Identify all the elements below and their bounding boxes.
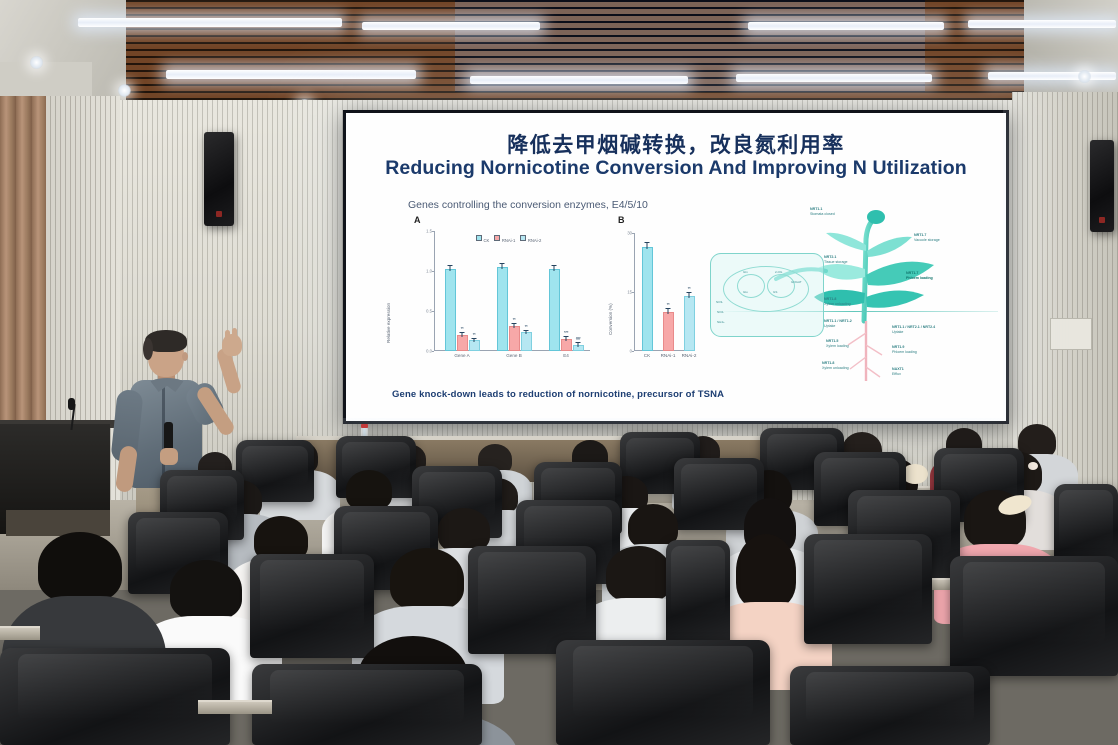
panel-b-xtick: RNAi-1 <box>661 353 676 358</box>
bar-rnai1: ** <box>509 328 520 351</box>
chart-panel-a: A Relative expression 0.0 0.5 1.0 1.5 CK <box>408 225 596 367</box>
bar-rnai2: ** <box>469 342 480 351</box>
ceiling-light-tube <box>362 22 540 30</box>
auditorium-chair[interactable] <box>556 640 770 745</box>
lecture-hall-photo: 降低去甲烟碱转换，改良氮利用率 Reducing Nornicotine Con… <box>0 0 1118 745</box>
ceiling-light-tube <box>736 74 932 82</box>
presenter-finger <box>225 330 230 340</box>
cell-label: NO2- <box>717 310 724 314</box>
projection-screen-surface: 降低去甲烟碱转换，改良氮利用率 Reducing Nornicotine Con… <box>346 113 1006 421</box>
ceiling-downlight <box>30 56 43 69</box>
cell-label: NO3- <box>716 300 723 304</box>
panel-a-xtick: E4 <box>563 353 569 358</box>
wall-notice-plate <box>1050 318 1092 350</box>
nrt-label: NRT1.9Phloem loading <box>892 345 917 355</box>
bar-ck <box>642 249 653 351</box>
bar-ck <box>497 269 508 351</box>
panel-a-letter: A <box>414 215 421 225</box>
panel-b-group: ** RNAi-1 <box>659 233 677 351</box>
ceiling-light-tube <box>988 72 1116 80</box>
desk-row <box>198 700 272 714</box>
significance-marker: ** <box>473 332 476 337</box>
bar-ck <box>549 271 560 351</box>
auditorium-chair[interactable] <box>250 554 374 658</box>
cell-label: NH4+ <box>717 320 725 324</box>
nrt-label: NRT1.7Phloem loading <box>906 271 933 281</box>
panel-a-group: *** ## E4 <box>546 231 586 351</box>
wall-speaker-right <box>1090 140 1114 232</box>
slide-subtitle: Genes controlling the conversion enzymes… <box>408 199 648 211</box>
significance-marker: ** <box>513 317 516 322</box>
nrt-label: NRT1.8Xylem unloading <box>822 361 849 371</box>
significance-marker: ## <box>576 336 580 341</box>
chart-panel-b: B Conversion (%) 0 15 30 <box>614 225 698 367</box>
auditorium-chair[interactable] <box>252 664 482 745</box>
cell-label: Gln <box>743 270 748 274</box>
significance-marker: ** <box>667 302 670 307</box>
bar-rnai1: ** <box>457 337 468 351</box>
bar-ck <box>445 271 456 351</box>
wall-speaker-left <box>204 132 234 226</box>
panel-b-plot-area: 0 15 30 CK <box>634 233 694 351</box>
projection-screen: 降低去甲烟碱转换，改良氮利用率 Reducing Nornicotine Con… <box>343 110 1009 424</box>
ceiling-light-tube <box>78 18 342 27</box>
auditorium-chair[interactable] <box>804 534 932 644</box>
nrt-label: NAXT1Efflux <box>892 367 904 377</box>
panel-a-xtick: Gene B <box>506 353 522 358</box>
nrt-label: NRT1.5Xylem loading <box>826 339 849 349</box>
panel-b-letter: B <box>618 215 625 225</box>
ceiling-light-tube <box>968 20 1116 28</box>
desk-row <box>0 626 40 640</box>
presenter-finger <box>232 328 237 339</box>
cell-label: GS <box>773 290 777 294</box>
bar-rnai1: ** <box>663 314 674 351</box>
water-bottle-cap <box>361 424 368 428</box>
cell-label: 2-OG <box>775 270 782 274</box>
nrt-label: NRT1.1 / NRT1.2Uptake <box>824 319 852 329</box>
cell-label: GOGAT <box>791 280 802 284</box>
panel-a-plot-area: 0.0 0.5 1.0 1.5 CK RNAi-1 RNAi-2 <box>434 231 590 351</box>
nrt-label: NRT1.1 / NRT2.1 / NRT2.4Uptake <box>892 325 935 335</box>
presenter-ear <box>182 352 188 361</box>
panel-b-y-axis <box>634 233 635 351</box>
nitrate-transporter-diagram: NO3- NO2- NH4+ Gln Glu 2-OG GS GOGAT NRT… <box>706 193 998 385</box>
nrt-label: NRT2.1Tissue storage <box>824 255 847 265</box>
slide-title-english: Reducing Nornicotine Conversion And Impr… <box>346 157 1006 180</box>
nrt-label: NRT1.7Vacuole storage <box>914 233 940 243</box>
hair-clip-accessory <box>1028 462 1038 470</box>
bar-rnai2: ** <box>521 334 532 351</box>
bar-rnai2: ## <box>573 347 584 351</box>
ceiling-light-tube <box>470 76 688 84</box>
podium-base <box>6 510 110 536</box>
ceiling-soffit-right <box>1024 0 1118 104</box>
speaker-indicator-icon <box>216 211 222 217</box>
ceiling-light-tube <box>748 22 944 30</box>
panel-b-group: ** RNAi-2 <box>680 233 698 351</box>
gooseneck-microphone-head-icon <box>68 398 75 410</box>
presenter-hair-side <box>143 338 153 360</box>
bar-rnai2: ** <box>684 298 695 351</box>
presentation-slide: 降低去甲烟碱转换，改良氮利用率 Reducing Nornicotine Con… <box>346 113 1006 421</box>
panel-a-y-axis-label: Relative expression <box>386 303 391 343</box>
panel-a-group: ** ** Gene A <box>442 231 482 351</box>
significance-marker: ** <box>461 326 464 331</box>
panel-b-y-axis-label: Conversion (%) <box>608 303 613 335</box>
panel-b-xtick: RNAi-2 <box>682 353 697 358</box>
window-curtain <box>0 96 46 426</box>
nucleus-icon <box>723 266 809 312</box>
significance-marker: *** <box>564 330 568 335</box>
auditorium-chair[interactable] <box>0 648 230 745</box>
legend-label: CK <box>484 238 490 243</box>
nrt-label: NRT1.1Stomata closed <box>810 207 835 217</box>
panel-a-y-axis <box>434 231 435 351</box>
nrt-label: NRT1.8Xylem unloading <box>824 297 851 307</box>
cell-label: Glu <box>743 290 748 294</box>
auditorium-chair[interactable] <box>666 540 730 644</box>
auditorium-chair[interactable] <box>468 546 596 654</box>
cell-schematic: NO3- NO2- NH4+ Gln Glu 2-OG GS GOGAT <box>710 253 824 337</box>
ceiling-light-tube <box>166 70 416 79</box>
panel-a-xtick: Gene A <box>454 353 469 358</box>
ceiling-downlight <box>1078 70 1091 83</box>
panel-b-group: CK <box>638 233 656 351</box>
slide-caption: Gene knock-down leads to reduction of no… <box>392 389 724 400</box>
presenter-mic-hand <box>160 448 178 465</box>
significance-marker: ** <box>525 324 528 329</box>
slide-title-chinese: 降低去甲烟碱转换，改良氮利用率 <box>346 129 1006 159</box>
panel-a-group: ** ** Gene B <box>494 231 534 351</box>
panel-b-xtick: CK <box>644 353 650 358</box>
auditorium-chair[interactable] <box>950 556 1118 676</box>
significance-marker: ** <box>688 286 691 291</box>
speaker-indicator-icon <box>1099 217 1105 223</box>
bar-rnai1: *** <box>561 341 572 351</box>
auditorium-chair[interactable] <box>790 666 990 745</box>
